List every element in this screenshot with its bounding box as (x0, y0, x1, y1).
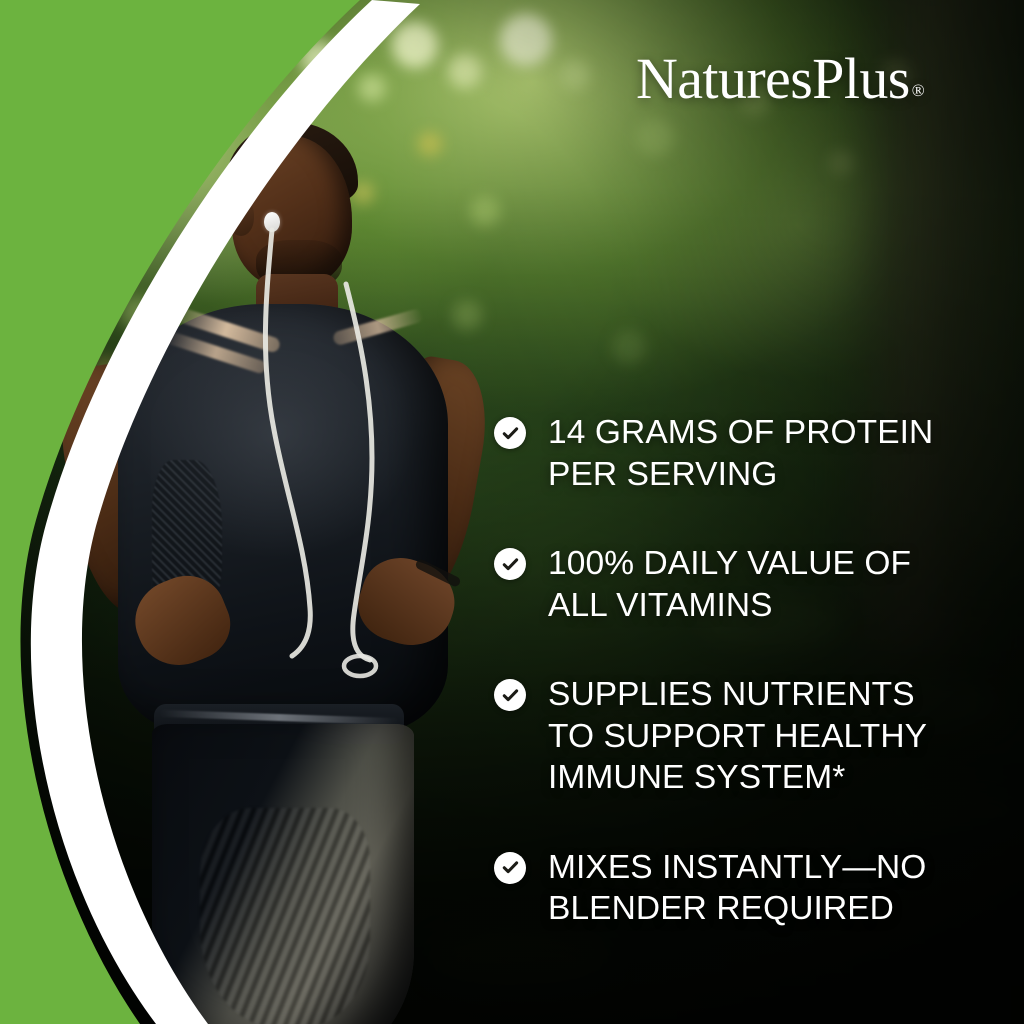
feature-text: MIXES INSTANTLY—NO BLENDER REQUIRED (548, 847, 926, 930)
earphone-cord (60, 108, 490, 1024)
feature-item: 100% DAILY VALUE OF ALL VITAMINS (494, 543, 994, 626)
feature-list: 14 GRAMS OF PROTEIN PER SERVING 100% DAI… (494, 412, 994, 930)
feature-text: 14 GRAMS OF PROTEIN PER SERVING (548, 412, 933, 495)
feature-item: 14 GRAMS OF PROTEIN PER SERVING (494, 412, 994, 495)
feature-text: SUPPLIES NUTRIENTS TO SUPPORT HEALTHY IM… (548, 674, 927, 799)
feature-text: 100% DAILY VALUE OF ALL VITAMINS (548, 543, 911, 626)
check-circle-icon (494, 548, 526, 580)
check-circle-icon (494, 679, 526, 711)
runner-figure (60, 108, 490, 1024)
brand-logo: NaturesPlus® (636, 50, 923, 108)
registered-trademark-icon: ® (912, 81, 925, 100)
feature-item: MIXES INSTANTLY—NO BLENDER REQUIRED (494, 847, 994, 930)
check-circle-icon (494, 852, 526, 884)
promo-banner: NaturesPlus® 14 GRAMS OF PROTEIN PER SER… (0, 0, 1024, 1024)
check-circle-icon (494, 417, 526, 449)
feature-item: SUPPLIES NUTRIENTS TO SUPPORT HEALTHY IM… (494, 674, 994, 799)
brand-logo-text: NaturesPlus (636, 46, 910, 111)
